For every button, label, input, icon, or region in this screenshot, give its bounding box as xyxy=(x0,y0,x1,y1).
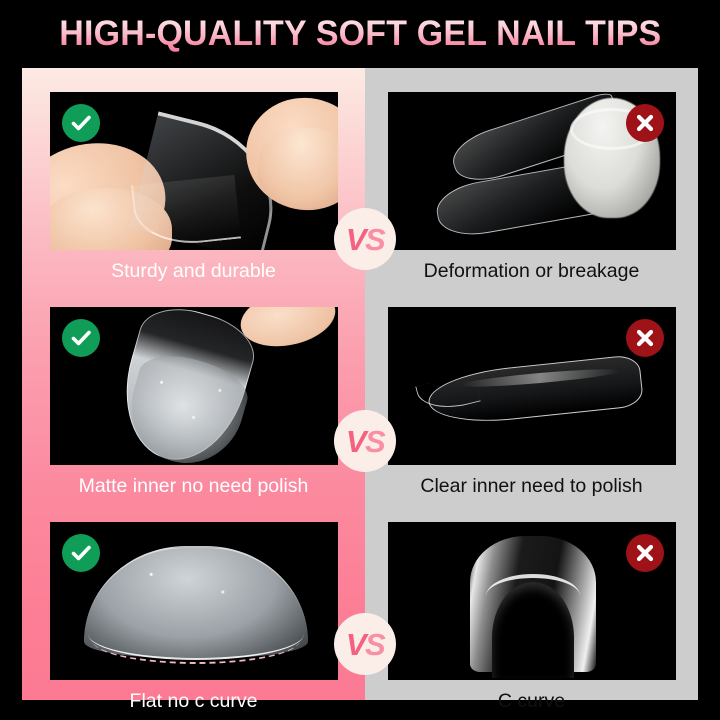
vs-badge: VS xyxy=(334,410,396,472)
bad-caption-1: Deformation or breakage xyxy=(424,259,640,283)
bad-column: Deformation or breakage Clear inner need… xyxy=(365,68,698,700)
good-photo-3 xyxy=(50,522,338,680)
vs-badge: VS xyxy=(334,208,396,270)
good-row-3: Flat no c curve xyxy=(22,498,365,713)
bad-photo-1 xyxy=(388,92,676,250)
vs-badge: VS xyxy=(334,613,396,675)
good-row-2: Matte inner no need polish xyxy=(22,283,365,498)
good-caption-2: Matte inner no need polish xyxy=(79,474,309,498)
vs-badge-v: V xyxy=(346,224,365,255)
good-caption-1: Sturdy and durable xyxy=(111,259,276,283)
bad-caption-3: C curve xyxy=(498,689,565,713)
good-row-1: Sturdy and durable xyxy=(22,68,365,283)
cross-icon xyxy=(626,319,664,357)
vs-badge-s: S xyxy=(365,426,384,457)
bad-caption-2: Clear inner need to polish xyxy=(420,474,642,498)
title-bar: HIGH-QUALITY SOFT GEL NAIL TIPS xyxy=(0,0,720,68)
vs-badge-s: S xyxy=(365,629,384,660)
good-caption-3: Flat no c curve xyxy=(130,689,258,713)
cross-icon xyxy=(626,534,664,572)
check-icon xyxy=(62,534,100,572)
vs-badge-v: V xyxy=(346,629,365,660)
comparison-board: Sturdy and durable Matte inner no need p… xyxy=(22,68,698,700)
bad-row-3: C curve xyxy=(365,498,698,713)
vs-badge-v: V xyxy=(346,426,365,457)
page-title: HIGH-QUALITY SOFT GEL NAIL TIPS xyxy=(59,14,661,54)
check-icon xyxy=(62,104,100,142)
vs-badge-s: S xyxy=(365,224,384,255)
bad-photo-2 xyxy=(388,307,676,465)
bad-row-1: Deformation or breakage xyxy=(365,68,698,283)
good-photo-2 xyxy=(50,307,338,465)
good-column: Sturdy and durable Matte inner no need p… xyxy=(22,68,365,700)
check-icon xyxy=(62,319,100,357)
good-photo-1 xyxy=(50,92,338,250)
bad-row-2: Clear inner need to polish xyxy=(365,283,698,498)
bad-photo-3 xyxy=(388,522,676,680)
cross-icon xyxy=(626,104,664,142)
